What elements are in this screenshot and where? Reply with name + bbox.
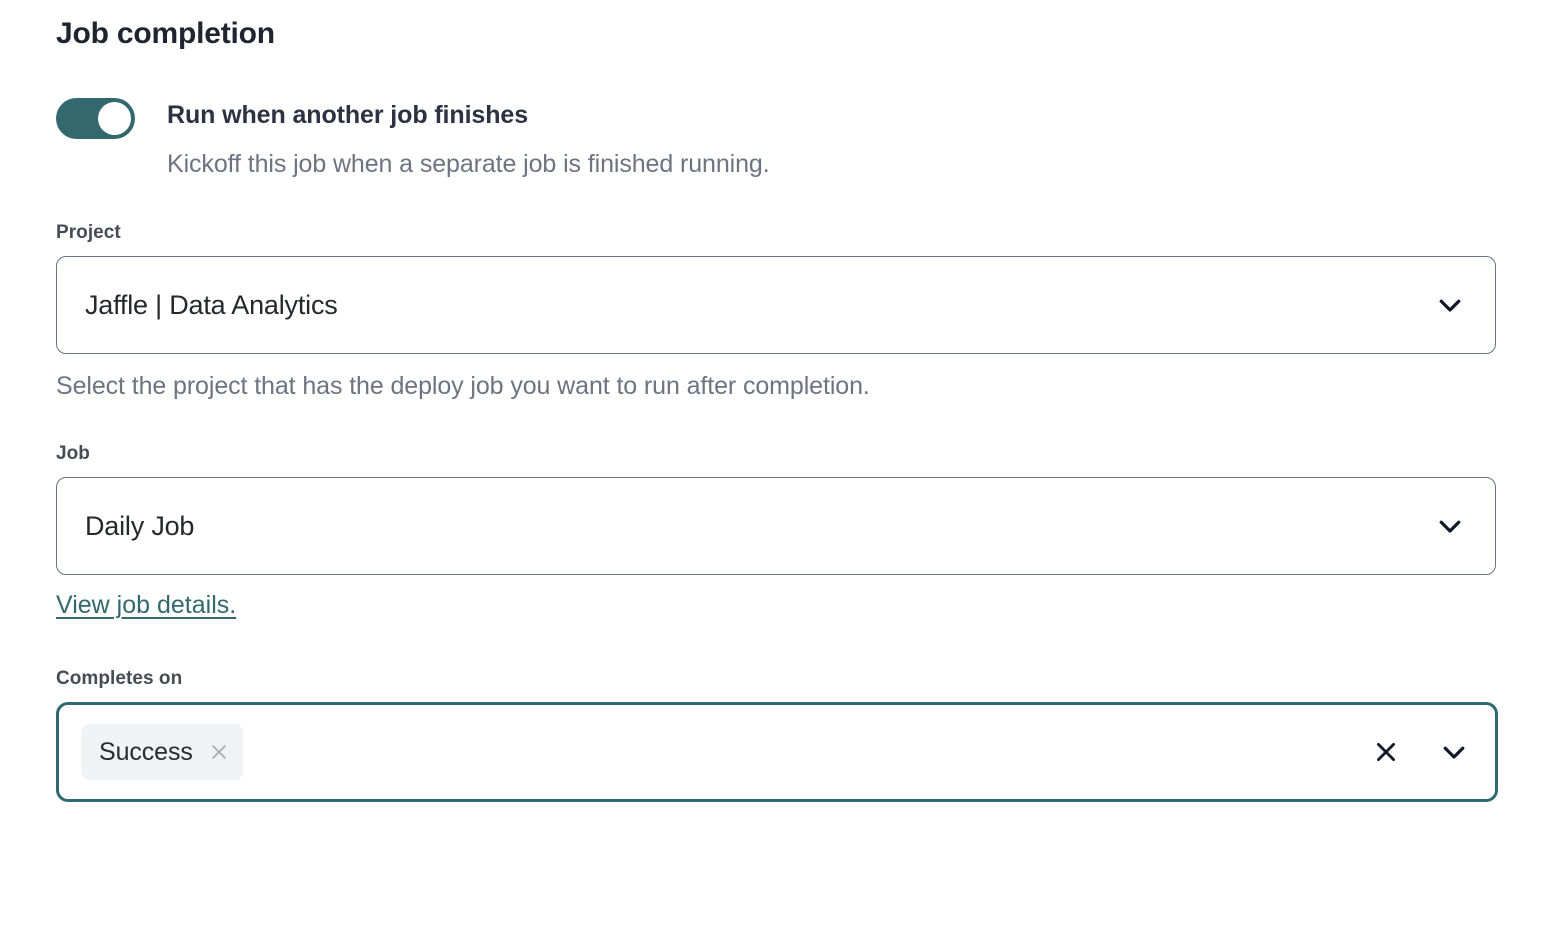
completes-on-field-group: Completes on Success (56, 667, 1496, 802)
multiselect-actions (1373, 737, 1469, 767)
job-field-group: Job Daily Job View job details. (56, 442, 1496, 621)
job-selected-value: Daily Job (85, 509, 194, 543)
completes-on-multiselect[interactable]: Success (56, 702, 1498, 802)
page-title: Job completion (56, 0, 1496, 54)
job-completion-panel: Job completion Run when another job fini… (0, 0, 1564, 936)
project-select[interactable]: Jaffle | Data Analytics (56, 256, 1496, 354)
close-icon[interactable] (1373, 739, 1399, 765)
close-icon[interactable] (209, 742, 229, 762)
chip-label: Success (99, 737, 193, 767)
toggle-title: Run when another job finishes (167, 99, 770, 131)
toggle-text-block: Run when another job finishes Kickoff th… (167, 97, 770, 179)
chevron-down-icon[interactable] (1439, 737, 1469, 767)
selected-chip: Success (81, 724, 243, 780)
chevron-down-icon[interactable] (1435, 290, 1465, 320)
project-field-group: Project Jaffle | Data Analytics Select t… (56, 221, 1496, 402)
job-select[interactable]: Daily Job (56, 477, 1496, 575)
run-when-another-job-finishes-toggle[interactable] (56, 98, 135, 139)
chevron-down-icon[interactable] (1435, 511, 1465, 541)
view-job-details-link[interactable]: View job details. (56, 589, 236, 621)
run-when-another-job-finishes-row: Run when another job finishes Kickoff th… (56, 97, 1496, 179)
project-helper-text: Select the project that has the deploy j… (56, 370, 1496, 402)
toggle-knob (98, 102, 131, 135)
toggle-description: Kickoff this job when a separate job is … (167, 149, 770, 179)
project-label: Project (56, 221, 1496, 245)
job-label: Job (56, 442, 1496, 466)
completes-on-label: Completes on (56, 667, 1496, 691)
project-selected-value: Jaffle | Data Analytics (85, 288, 338, 322)
